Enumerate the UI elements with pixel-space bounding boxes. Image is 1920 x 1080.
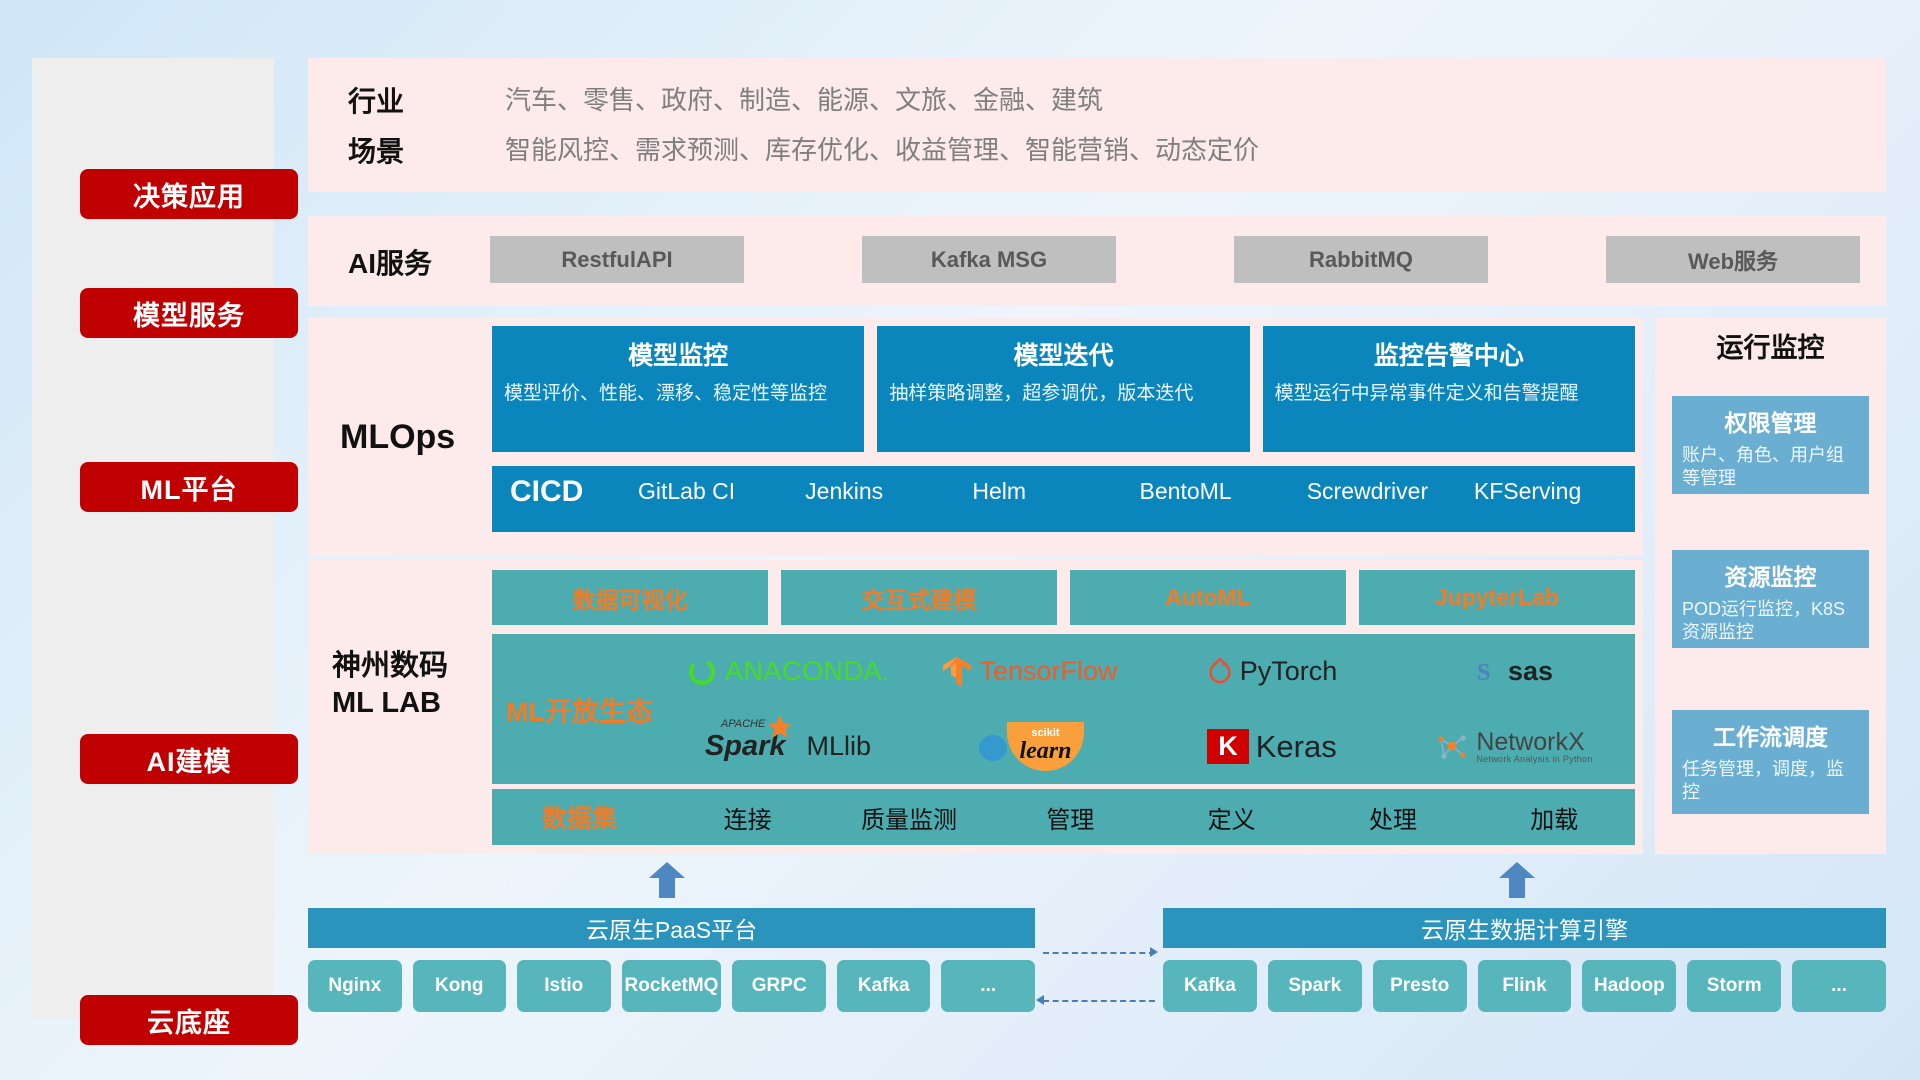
- ml-lab-tab-list: 数据可视化 交互式建模 AutoML JupyterLab: [492, 570, 1635, 625]
- paas-tile-kong[interactable]: Kong: [413, 960, 507, 1012]
- card-title: 模型迭代: [889, 336, 1237, 372]
- tensorflow-logo: TensorFlow: [942, 655, 1117, 689]
- data-engine-tile-list: Kafka Spark Presto Flink Hadoop Storm ..…: [1163, 960, 1886, 1012]
- dashed-connector-left: [1043, 1000, 1155, 1002]
- networkx-label: NetworkX: [1476, 730, 1592, 755]
- cicd-title: CICD: [492, 466, 632, 509]
- cicd-item-helm[interactable]: Helm: [966, 466, 1133, 507]
- paas-band-label: 云原生PaaS平台: [586, 911, 757, 945]
- up-arrow-icon-paas: [645, 862, 689, 898]
- scenario-label: 场景: [348, 130, 404, 170]
- sas-logo: S sas: [1475, 656, 1553, 687]
- paas-tile-list: Nginx Kong Istio RocketMQ GRPC Kafka ...: [308, 960, 1035, 1012]
- card-desc: 抽样策略调整，超参调优，版本迭代: [889, 381, 1237, 406]
- cicd-item-gitlab-ci[interactable]: GitLab CI: [632, 466, 799, 507]
- networkx-logo: NetworkX Network Analysis in Python: [1435, 730, 1592, 764]
- anaconda-label: ANACONDA.: [725, 656, 890, 687]
- data-engine-tile-presto[interactable]: Presto: [1373, 960, 1467, 1012]
- keras-logo: K Keras: [1207, 729, 1336, 765]
- ai-service-chip-web-service[interactable]: Web服务: [1606, 236, 1860, 283]
- ml-lab-label-line1: 神州数码: [332, 648, 448, 685]
- anaconda-logo: ANACONDA.: [686, 656, 890, 688]
- rail-item-decision-app[interactable]: 决策应用: [80, 169, 298, 219]
- chip-label: RabbitMQ: [1309, 247, 1413, 273]
- sas-label: sas: [1508, 656, 1553, 687]
- mlops-card-list: 模型监控 模型评价、性能、漂移、稳定性等监控 模型迭代 抽样策略调整，超参调优，…: [492, 326, 1635, 452]
- dashed-arrow-head-left: [1036, 995, 1044, 1005]
- pytorch-label: PyTorch: [1240, 656, 1338, 687]
- industry-values: 汽车、零售、政府、制造、能源、文旅、金融、建筑: [505, 80, 1103, 117]
- networkx-icon: [1435, 731, 1469, 763]
- tab-data-visualization[interactable]: 数据可视化: [492, 570, 768, 625]
- card-desc: POD运行监控，K8S资源监控: [1682, 598, 1859, 645]
- card-desc: 模型运行中异常事件定义和告警提醒: [1275, 381, 1623, 406]
- rail-label: 云底座: [147, 1001, 231, 1040]
- tab-interactive-modeling[interactable]: 交互式建模: [781, 570, 1057, 625]
- rail-item-ai-modeling[interactable]: AI建模: [80, 734, 298, 784]
- data-engine-tile-more[interactable]: ...: [1792, 960, 1886, 1012]
- cicd-item-screwdriver[interactable]: Screwdriver: [1301, 466, 1468, 507]
- rail-label: AI建模: [147, 740, 232, 779]
- ai-service-chip-rabbitmq[interactable]: RabbitMQ: [1234, 236, 1488, 283]
- data-engine-tile-storm[interactable]: Storm: [1687, 960, 1781, 1012]
- ai-service-chip-restfulapi[interactable]: RestfulAPI: [490, 236, 744, 283]
- ml-lab-label-line2: ML LAB: [332, 685, 448, 722]
- tensorflow-icon: [942, 655, 972, 689]
- industry-label: 行业: [348, 80, 404, 120]
- spark-star-icon: [767, 714, 793, 740]
- paas-tile-more[interactable]: ...: [941, 960, 1035, 1012]
- scikit-learn-badge: scikit learn: [1007, 722, 1083, 771]
- rail-label: 决策应用: [133, 175, 245, 214]
- cicd-bar: CICD GitLab CI Jenkins Helm BentoML Scre…: [492, 466, 1635, 532]
- card-title: 权限管理: [1682, 404, 1859, 438]
- pytorch-logo: PyTorch: [1207, 656, 1338, 687]
- paas-tile-nginx[interactable]: Nginx: [308, 960, 402, 1012]
- ai-service-chip-kafka-msg[interactable]: Kafka MSG: [862, 236, 1116, 283]
- scikit-blue-icon: [976, 730, 1010, 764]
- spark-logo: APACHE Spark MLlib: [705, 730, 871, 763]
- networkx-sublabel: Network Analysis in Python: [1476, 755, 1592, 764]
- data-engine-tile-flink[interactable]: Flink: [1478, 960, 1572, 1012]
- chip-label: RestfulAPI: [561, 247, 672, 273]
- card-desc: 模型评价、性能、漂移、稳定性等监控: [504, 381, 852, 406]
- ml-ecosystem-logo-grid: ANACONDA. TensorFlow PyTorch S: [667, 634, 1635, 784]
- dataset-item-process[interactable]: 处理: [1312, 800, 1473, 835]
- dataset-bar: 数据集 连接 质量监测 管理 定义 处理 加载: [492, 789, 1635, 845]
- up-arrow-icon-data-engine: [1495, 862, 1539, 898]
- dataset-item-connect[interactable]: 连接: [667, 800, 828, 835]
- cicd-item-bentoml[interactable]: BentoML: [1134, 466, 1301, 507]
- monitor-card-permission[interactable]: 权限管理 账户、角色、用户组等管理: [1672, 396, 1869, 494]
- ml-lab-label: 神州数码 ML LAB: [332, 648, 448, 721]
- ml-ecosystem-title: ML开放生态: [492, 690, 667, 729]
- architecture-diagram: 决策应用 模型服务 ML平台 AI建模 云底座 行业 汽车、零售、政府、制造、能…: [0, 0, 1920, 1080]
- monitor-card-workflow[interactable]: 工作流调度 任务管理，调度，监控: [1672, 710, 1869, 814]
- card-title: 监控告警中心: [1275, 336, 1623, 372]
- left-rail: 决策应用 模型服务 ML平台 AI建模 云底座: [32, 58, 274, 1020]
- card-title: 资源监控: [1682, 558, 1859, 592]
- monitor-card-resource[interactable]: 资源监控 POD运行监控，K8S资源监控: [1672, 550, 1869, 648]
- rail-item-model-service[interactable]: 模型服务: [80, 288, 298, 338]
- dataset-title: 数据集: [492, 799, 667, 835]
- paas-tile-rocketmq[interactable]: RocketMQ: [622, 960, 722, 1012]
- sas-mark: S: [1477, 660, 1490, 686]
- dashed-connector-right: [1043, 952, 1155, 954]
- rail-label: ML平台: [141, 468, 238, 507]
- spark-wordmark: APACHE Spark: [705, 730, 786, 763]
- data-engine-tile-kafka[interactable]: Kafka: [1163, 960, 1257, 1012]
- cicd-item-kfserving[interactable]: KFServing: [1468, 466, 1635, 507]
- data-engine-band: 云原生数据计算引擎: [1163, 908, 1886, 948]
- chip-label: Web服务: [1688, 244, 1778, 276]
- sas-icon: S: [1475, 658, 1501, 686]
- rail-label: 模型服务: [133, 294, 245, 333]
- card-title: 工作流调度: [1682, 718, 1859, 752]
- keras-mark-icon: K: [1207, 729, 1249, 764]
- rail-item-ml-platform[interactable]: ML平台: [80, 462, 298, 512]
- dataset-item-define[interactable]: 定义: [1151, 800, 1312, 835]
- mlops-card-model-monitoring[interactable]: 模型监控 模型评价、性能、漂移、稳定性等监控: [492, 326, 864, 452]
- data-engine-tile-hadoop[interactable]: Hadoop: [1582, 960, 1676, 1012]
- dataset-item-manage[interactable]: 管理: [990, 800, 1151, 835]
- spark-apache-label: APACHE: [721, 718, 765, 730]
- tensorflow-label: TensorFlow: [979, 656, 1117, 687]
- ai-service-chip-list: RestfulAPI Kafka MSG RabbitMQ Web服务: [490, 236, 1860, 283]
- mlops-card-alert-center[interactable]: 监控告警中心 模型运行中异常事件定义和告警提醒: [1263, 326, 1635, 452]
- keras-label: Keras: [1256, 729, 1337, 765]
- card-desc: 账户、角色、用户组等管理: [1682, 444, 1859, 491]
- pytorch-icon: [1207, 657, 1233, 687]
- ai-service-label: AI服务: [348, 242, 432, 282]
- rail-item-cloud-base[interactable]: 云底座: [80, 995, 298, 1045]
- dashed-arrow-head-right: [1150, 947, 1158, 957]
- data-engine-band-label: 云原生数据计算引擎: [1421, 911, 1628, 945]
- scikit-learn-logo: scikit learn: [976, 722, 1083, 771]
- learn-label: learn: [1019, 739, 1071, 763]
- mllib-label: MLlib: [807, 731, 872, 762]
- scenario-values: 智能风控、需求预测、库存优化、收益管理、智能营销、动态定价: [505, 130, 1259, 167]
- dataset-item-load[interactable]: 加载: [1474, 800, 1635, 835]
- ml-ecosystem-band: ML开放生态 ANACONDA. TensorFlow: [492, 634, 1635, 784]
- paas-tile-grpc[interactable]: GRPC: [732, 960, 826, 1012]
- tab-automl[interactable]: AutoML: [1070, 570, 1346, 625]
- paas-band: 云原生PaaS平台: [308, 908, 1035, 948]
- card-title: 模型监控: [504, 336, 852, 372]
- mlops-label: MLOps: [340, 418, 455, 457]
- tab-jupyterlab[interactable]: JupyterLab: [1359, 570, 1635, 625]
- data-engine-tile-spark[interactable]: Spark: [1268, 960, 1362, 1012]
- card-desc: 任务管理，调度，监控: [1682, 758, 1859, 805]
- mlops-card-model-iteration[interactable]: 模型迭代 抽样策略调整，超参调优，版本迭代: [877, 326, 1249, 452]
- dataset-item-quality-monitor[interactable]: 质量监测: [828, 800, 989, 835]
- industry-scenario-panel: [308, 58, 1886, 192]
- networkx-wordmark: NetworkX Network Analysis in Python: [1476, 730, 1592, 764]
- runtime-monitor-title: 运行监控: [1655, 326, 1886, 365]
- paas-tile-kafka[interactable]: Kafka: [837, 960, 931, 1012]
- cicd-item-jenkins[interactable]: Jenkins: [799, 466, 966, 507]
- chip-label: Kafka MSG: [931, 247, 1047, 273]
- paas-tile-istio[interactable]: Istio: [517, 960, 611, 1012]
- anaconda-icon: [686, 656, 718, 688]
